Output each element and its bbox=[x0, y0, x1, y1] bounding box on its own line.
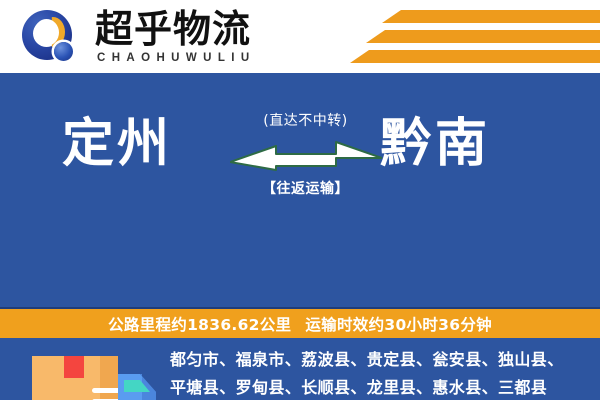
brand-text-block: 超乎物流 CHAOHUWULIU bbox=[95, 8, 315, 64]
logo-accent-dot-shape bbox=[54, 42, 73, 61]
banner-header: 超乎物流 CHAOHUWULIU bbox=[0, 0, 600, 73]
district-list: 都匀市、福泉市、荔波县、贵定县、瓮安县、独山县、 平塘县、罗甸县、长顺县、龙里县… bbox=[170, 346, 590, 400]
brand-name-en: CHAOHUWULIU bbox=[97, 52, 315, 64]
district-line-1: 都匀市、福泉市、荔波县、贵定县、瓮安县、独山县、 bbox=[170, 346, 590, 374]
logo-crescent-cutout-shape bbox=[34, 19, 59, 46]
duration-label: 运输时效约30小时36分钟 bbox=[305, 316, 492, 334]
header-stripe-2 bbox=[366, 30, 600, 43]
delivery-truck-icon bbox=[28, 350, 168, 400]
destination-city-label: 黔南 bbox=[380, 113, 490, 175]
round-trip-note: 【往返运输】 bbox=[228, 179, 383, 199]
route-section: 定州 (直达不中转) 【往返运输】 黔南 bbox=[0, 73, 600, 232]
coverage-section: 都匀市、福泉市、荔波县、贵定县、瓮安县、独山县、 平塘县、罗甸县、长顺县、龙里县… bbox=[0, 338, 600, 400]
direct-route-note: (直达不中转) bbox=[228, 111, 383, 131]
distance-label: 公路里程约1836.62公里 bbox=[108, 316, 291, 334]
route-arrow-block: (直达不中转) 【往返运输】 bbox=[228, 111, 383, 199]
logistics-route-banner: 超乎物流 CHAOHUWULIU 定州 (直达不中转) 【往返运输】 黔南 公路… bbox=[0, 0, 600, 400]
origin-city-label: 定州 bbox=[62, 113, 172, 175]
info-bar-text: 公路里程约1836.62公里运输时效约30小时36分钟 bbox=[108, 313, 492, 335]
header-stripe-3 bbox=[350, 50, 600, 63]
route-info-bar: 公路里程约1836.62公里运输时效约30小时36分钟 bbox=[0, 307, 600, 338]
header-stripe-1 bbox=[382, 10, 600, 23]
banner-body: 定州 (直达不中转) 【往返运输】 黔南 公路里程约1836.62公里运输时效约… bbox=[0, 73, 600, 400]
brand-name-cn: 超乎物流 bbox=[95, 8, 315, 50]
district-line-2: 平塘县、罗甸县、长顺县、龙里县、惠水县、三都县 bbox=[170, 374, 590, 400]
double-headed-arrow-icon bbox=[230, 139, 382, 173]
circle-crescent-logo-icon bbox=[22, 10, 80, 66]
